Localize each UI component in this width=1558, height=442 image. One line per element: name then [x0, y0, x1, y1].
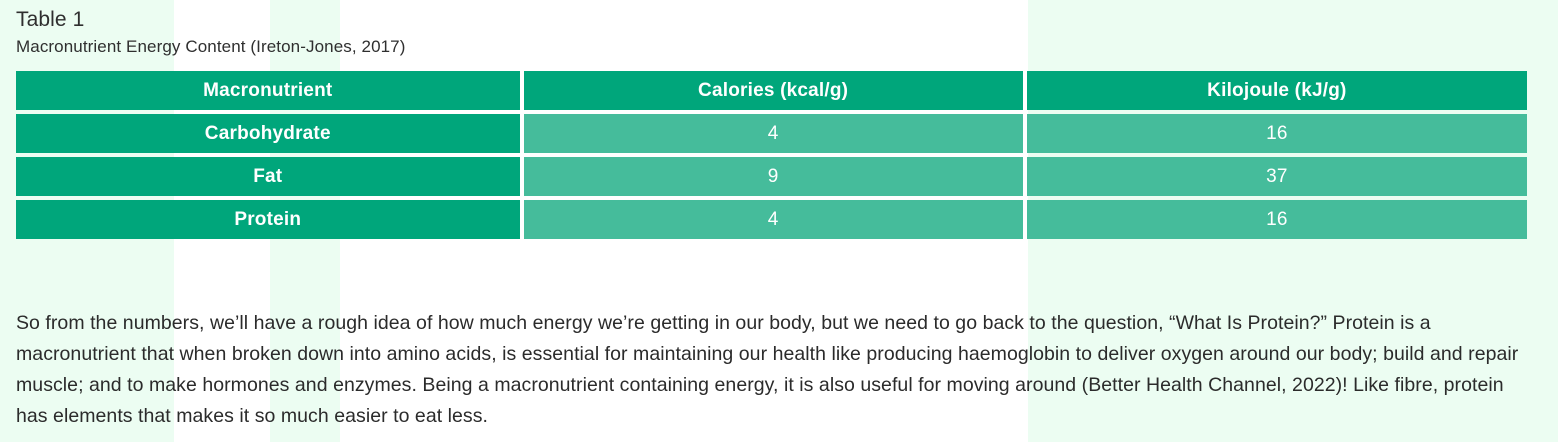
cell-fat-calories: 9 — [524, 157, 1023, 196]
column-header-calories: Calories (kcal/g) — [524, 71, 1023, 110]
row-header-fat: Fat — [16, 157, 520, 196]
cell-carbohydrate-calories: 4 — [524, 114, 1023, 153]
column-header-macronutrient: Macronutrient — [16, 71, 520, 110]
table-header-row: Macronutrient Calories (kcal/g) Kilojoul… — [16, 71, 1527, 110]
table-caption: Macronutrient Energy Content (Ireton-Jon… — [16, 35, 406, 59]
cell-carbohydrate-kilojoule: 16 — [1027, 114, 1527, 153]
table-row: Fat 9 37 — [16, 157, 1527, 196]
cell-protein-calories: 4 — [524, 200, 1023, 239]
table-row: Carbohydrate 4 16 — [16, 114, 1527, 153]
table-row: Protein 4 16 — [16, 200, 1527, 239]
document-page: Table 1 Macronutrient Energy Content (Ir… — [0, 0, 1558, 442]
table-label: Table 1 — [16, 6, 84, 34]
cell-fat-kilojoule: 37 — [1027, 157, 1527, 196]
table-body: Carbohydrate 4 16 Fat 9 37 Protein 4 16 — [16, 114, 1527, 239]
cell-protein-kilojoule: 16 — [1027, 200, 1527, 239]
row-header-protein: Protein — [16, 200, 520, 239]
table-header: Macronutrient Calories (kcal/g) Kilojoul… — [16, 71, 1527, 110]
row-header-carbohydrate: Carbohydrate — [16, 114, 520, 153]
column-header-kilojoule: Kilojoule (kJ/g) — [1027, 71, 1527, 110]
body-paragraph: So from the numbers, we’ll have a rough … — [16, 308, 1528, 432]
macronutrient-energy-table: Macronutrient Calories (kcal/g) Kilojoul… — [12, 67, 1531, 243]
